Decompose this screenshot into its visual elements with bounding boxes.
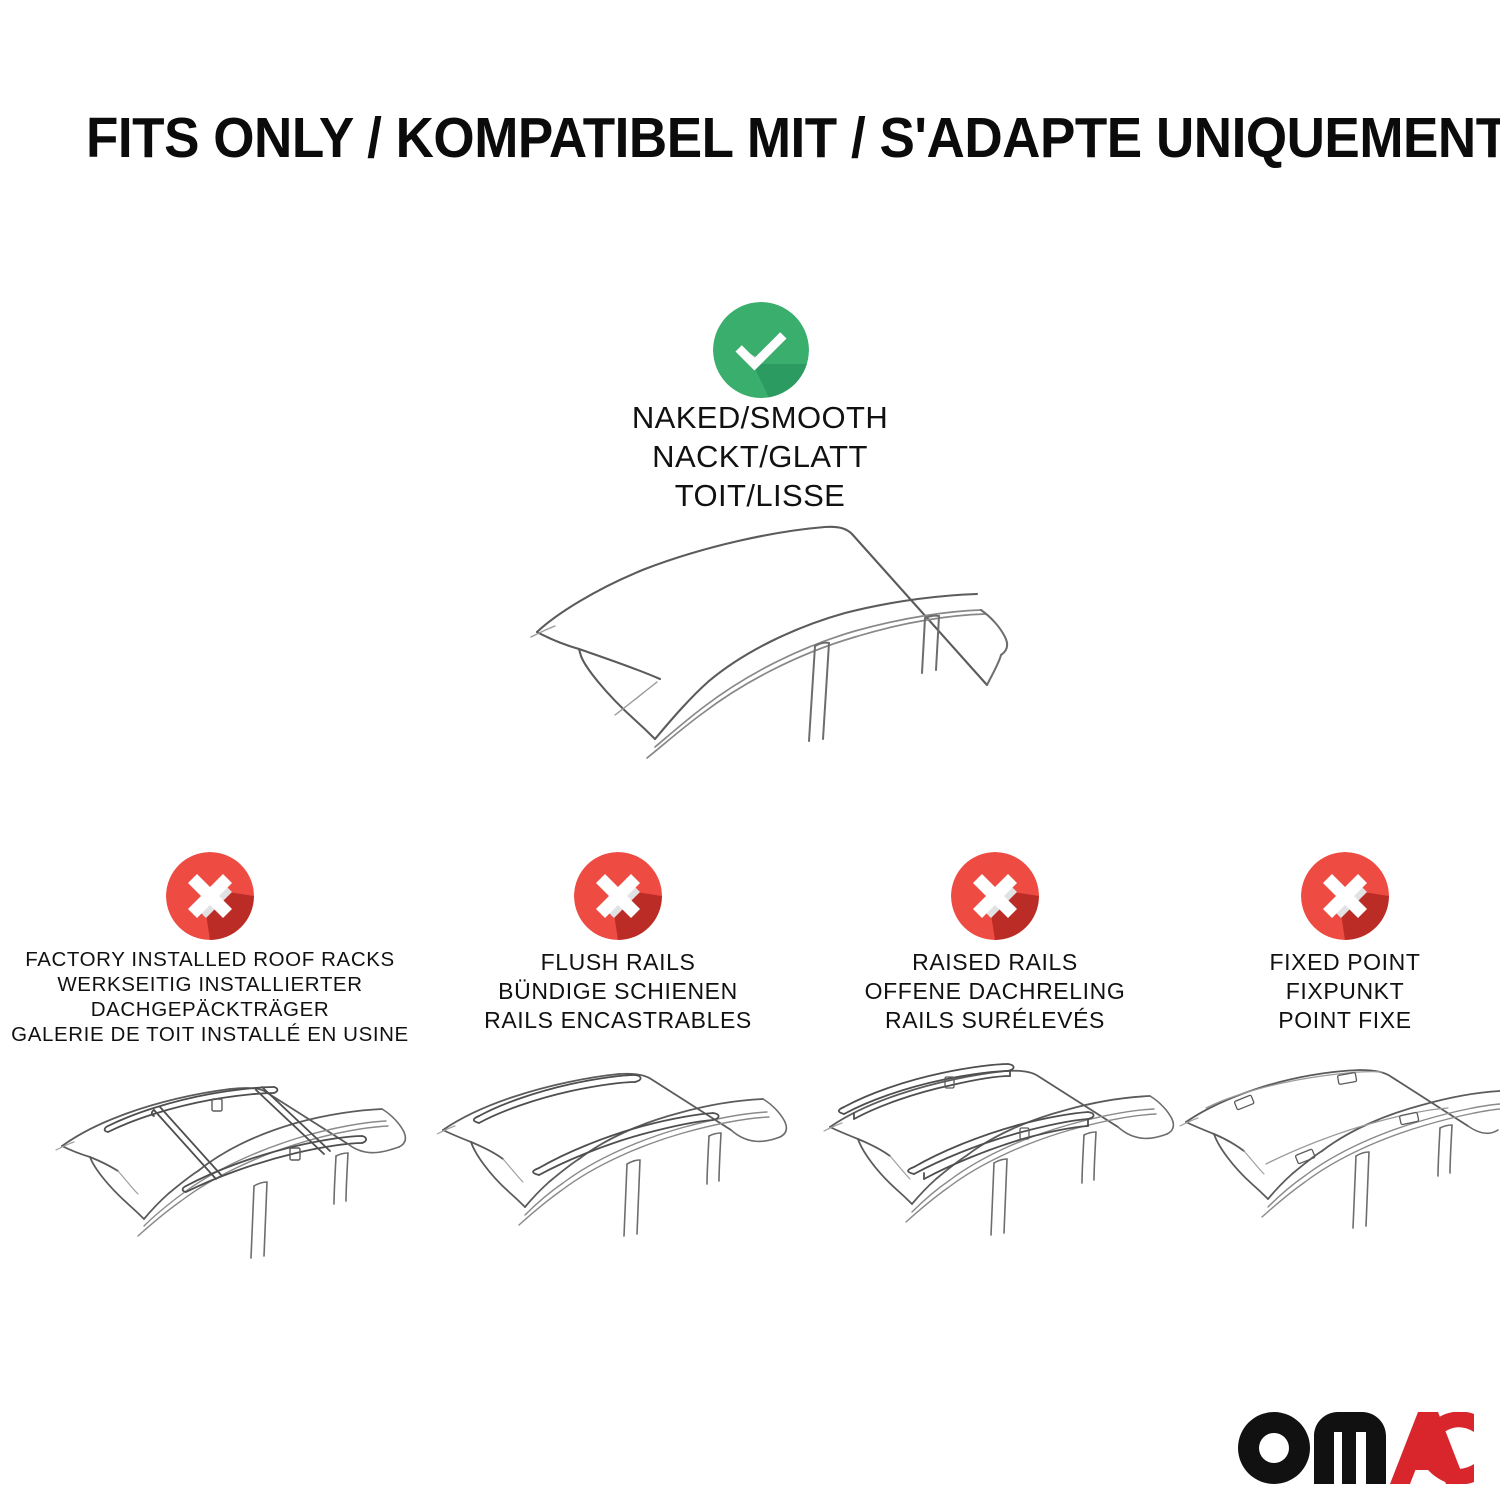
raised-rail-roof-drawing: [818, 1063, 1188, 1283]
check-circle-glyph: [713, 302, 809, 398]
omac-logo-glyph: [1238, 1412, 1474, 1484]
compatible-caption: NAKED/SMOOTH NACKT/GLATT TOIT/LISSE: [500, 398, 1020, 515]
caption-line: FLUSH RAILS: [428, 948, 808, 977]
x-circle-icon: [166, 852, 254, 940]
fixed-point-roof-drawing: [1178, 1068, 1500, 1283]
check-circle-icon: [713, 302, 809, 398]
caption-line: POINT FIXE: [1165, 1006, 1500, 1035]
x-circle-glyph: [951, 852, 1039, 940]
caption-line: GALERIE DE TOIT INSTALLÉ EN USINE: [10, 1022, 410, 1047]
caption-line: BÜNDIGE SCHIENEN: [428, 977, 808, 1006]
caption-line: FACTORY INSTALLED ROOF RACKS: [10, 947, 410, 972]
caption-line: RAILS ENCASTRABLES: [428, 1006, 808, 1035]
x-circle-glyph: [166, 852, 254, 940]
caption-line: RAILS SURÉLEVÉS: [805, 1006, 1185, 1035]
x-circle-icon: [574, 852, 662, 940]
caption-line: DACHGEPÄCKTRÄGER: [10, 997, 410, 1022]
omac-logo: [1238, 1412, 1474, 1484]
caption-line: WERKSEITIG INSTALLIERTER: [10, 972, 410, 997]
factory-rack-roof-drawing: [48, 1068, 433, 1283]
caption-line: RAISED RAILS: [805, 948, 1185, 977]
caption-line: OFFENE DACHRELING: [805, 977, 1185, 1006]
x-circle-icon: [951, 852, 1039, 940]
smooth-roof-drawing: [495, 515, 1035, 790]
page-title: FITS ONLY / KOMPATIBEL MIT / S'ADAPTE UN…: [86, 106, 1332, 170]
incompatible-caption-factory-installed-roof-racks: FACTORY INSTALLED ROOF RACKS WERKSEITIG …: [10, 947, 410, 1047]
compatible-line-3: TOIT/LISSE: [500, 476, 1020, 515]
fitment-infographic: FITS ONLY / KOMPATIBEL MIT / S'ADAPTE UN…: [0, 0, 1500, 1500]
x-circle-icon: [1301, 852, 1389, 940]
incompatible-caption-flush-rails: FLUSH RAILS BÜNDIGE SCHIENEN RAILS ENCAS…: [428, 948, 808, 1035]
x-circle-glyph: [574, 852, 662, 940]
caption-line: FIXPUNKT: [1165, 977, 1500, 1006]
incompatible-caption-raised-rails: RAISED RAILS OFFENE DACHRELING RAILS SUR…: [805, 948, 1185, 1035]
flush-rail-roof-drawing: [437, 1068, 807, 1283]
incompatible-caption-fixed-point: FIXED POINT FIXPUNKT POINT FIXE: [1165, 948, 1500, 1035]
compatible-line-1: NAKED/SMOOTH: [500, 398, 1020, 437]
caption-line: FIXED POINT: [1165, 948, 1500, 977]
compatible-line-2: NACKT/GLATT: [500, 437, 1020, 476]
x-circle-glyph: [1301, 852, 1389, 940]
